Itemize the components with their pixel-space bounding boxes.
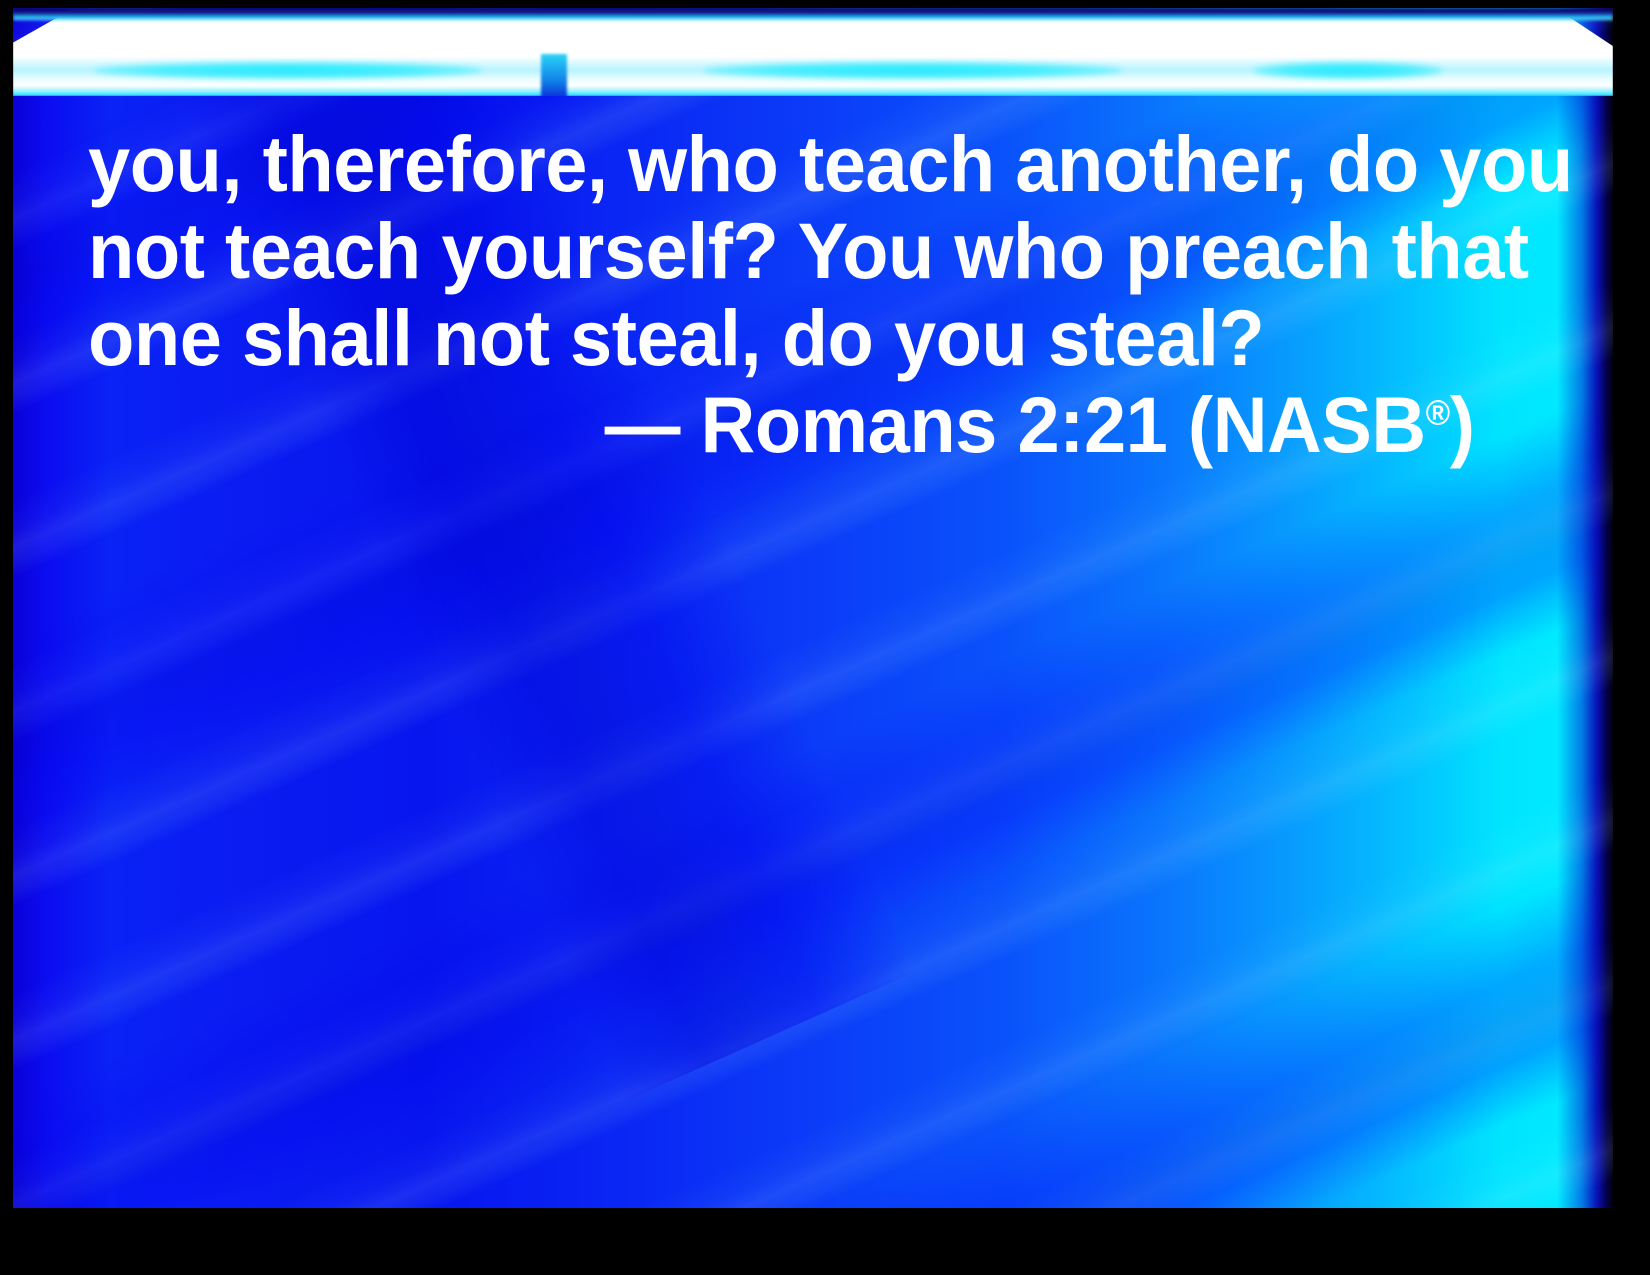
verse-line-2: not teach yourself? You who preach that	[88, 207, 1432, 294]
glow-cyan-streak-center	[703, 62, 1123, 79]
attribution-prefix: — Romans 2:21 (NASB	[605, 380, 1426, 469]
attribution-suffix: )	[1450, 380, 1475, 469]
gradient-background: you, therefore, who teach another, do yo…	[13, 8, 1613, 1208]
top-glow-band	[13, 10, 1613, 96]
verse-slide: you, therefore, who teach another, do yo…	[0, 0, 1650, 1275]
verse-line-1: you, therefore, who teach another, do yo…	[88, 120, 1432, 207]
registered-trademark-icon: ®	[1426, 395, 1450, 433]
top-edge-highlight	[13, 8, 1613, 20]
verse-text-block: you, therefore, who teach another, do yo…	[88, 120, 1488, 468]
verse-attribution: — Romans 2:21 (NASB®)	[144, 381, 1488, 468]
verse-line-3: one shall not steal, do you steal?	[88, 294, 1432, 381]
glow-band-notch	[541, 54, 567, 100]
glow-cyan-streak-left	[93, 62, 483, 79]
glow-cyan-streak-right	[1253, 62, 1443, 79]
